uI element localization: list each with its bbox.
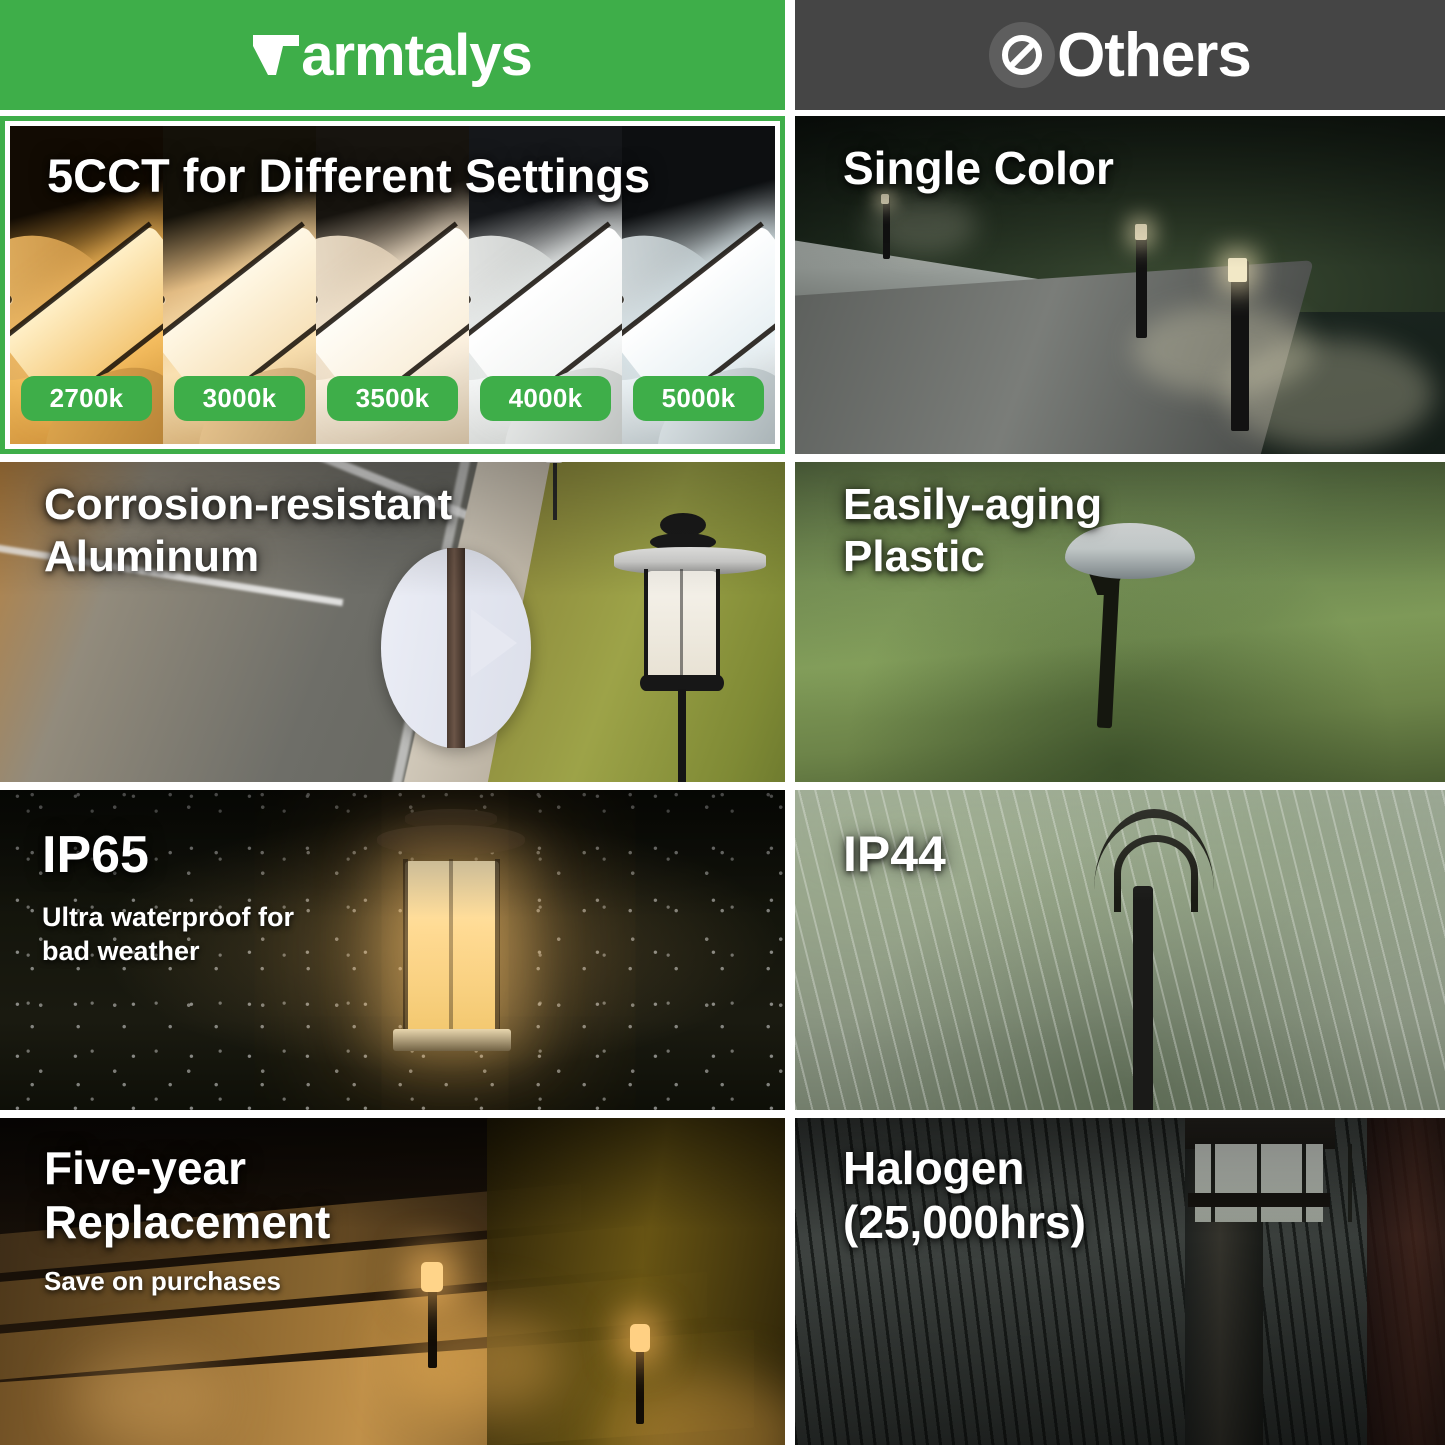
brand-name: armtalys [301, 22, 532, 89]
cct-badge: 3500k [327, 376, 458, 421]
cct-badge: 4000k [480, 376, 611, 421]
plastic-title-line1: Easily-aging [843, 482, 1102, 529]
cct-badge-slot: 5000k [622, 376, 775, 421]
panel-aluminum: Corrosion-resistant Aluminum [0, 462, 785, 782]
others-label: Others [1057, 20, 1251, 91]
comparison-infographic: armtalys Others [0, 0, 1445, 1445]
panel-color-temperature: 5CCT for Different Settings 2700k 3000k … [0, 116, 785, 454]
cct-badge-slot: 2700k [10, 376, 163, 421]
brand-logo: armtalys [253, 22, 532, 89]
cct-badge-row: 2700k 3000k 3500k 4000k 5000k [10, 376, 775, 421]
v-chevron-logo-icon [253, 33, 299, 77]
panel-plastic: Easily-aging Plastic [795, 462, 1445, 782]
five-year-sub: Save on purchases [44, 1266, 281, 1297]
aluminum-title-line2: Aluminum [44, 534, 259, 581]
others-label-group: Others [989, 20, 1251, 91]
panel-halogen: Halogen (25,000hrs) [795, 1118, 1445, 1445]
cct-badge: 2700k [21, 376, 152, 421]
aluminum-title-line1: Corrosion-resistant [44, 482, 452, 529]
cct-badge: 3000k [174, 376, 305, 421]
halogen-title-line1: Halogen [843, 1144, 1024, 1193]
cct-badge-slot: 3500k [316, 376, 469, 421]
cct-title: 5CCT for Different Settings [47, 151, 650, 201]
cct-badge-slot: 3000k [163, 376, 316, 421]
brand-header: armtalys [0, 0, 785, 110]
cct-badge: 5000k [633, 376, 764, 421]
ip65-sub-line2: bad weather [42, 936, 200, 968]
five-year-title-line1: Five-year [44, 1144, 246, 1193]
cct-badge-slot: 4000k [469, 376, 622, 421]
panel-ip44: IP44 [795, 790, 1445, 1110]
ip65-title: IP65 [42, 828, 149, 883]
panel-ip65: IP65 Ultra waterproof for bad weather [0, 790, 785, 1110]
plastic-title-line2: Plastic [843, 534, 985, 581]
others-header: Others [795, 0, 1445, 110]
ip44-title: IP44 [843, 828, 946, 881]
ip65-sub-line1: Ultra waterproof for [42, 902, 294, 934]
prohibition-icon [989, 22, 1055, 88]
halogen-title-line2: (25,000hrs) [843, 1198, 1086, 1247]
five-year-title-line2: Replacement [44, 1198, 330, 1247]
panel-five-year: Five-year Replacement Save on purchases [0, 1118, 785, 1445]
panel-single-color: Single Color [795, 116, 1445, 454]
single-color-title: Single Color [843, 144, 1114, 193]
